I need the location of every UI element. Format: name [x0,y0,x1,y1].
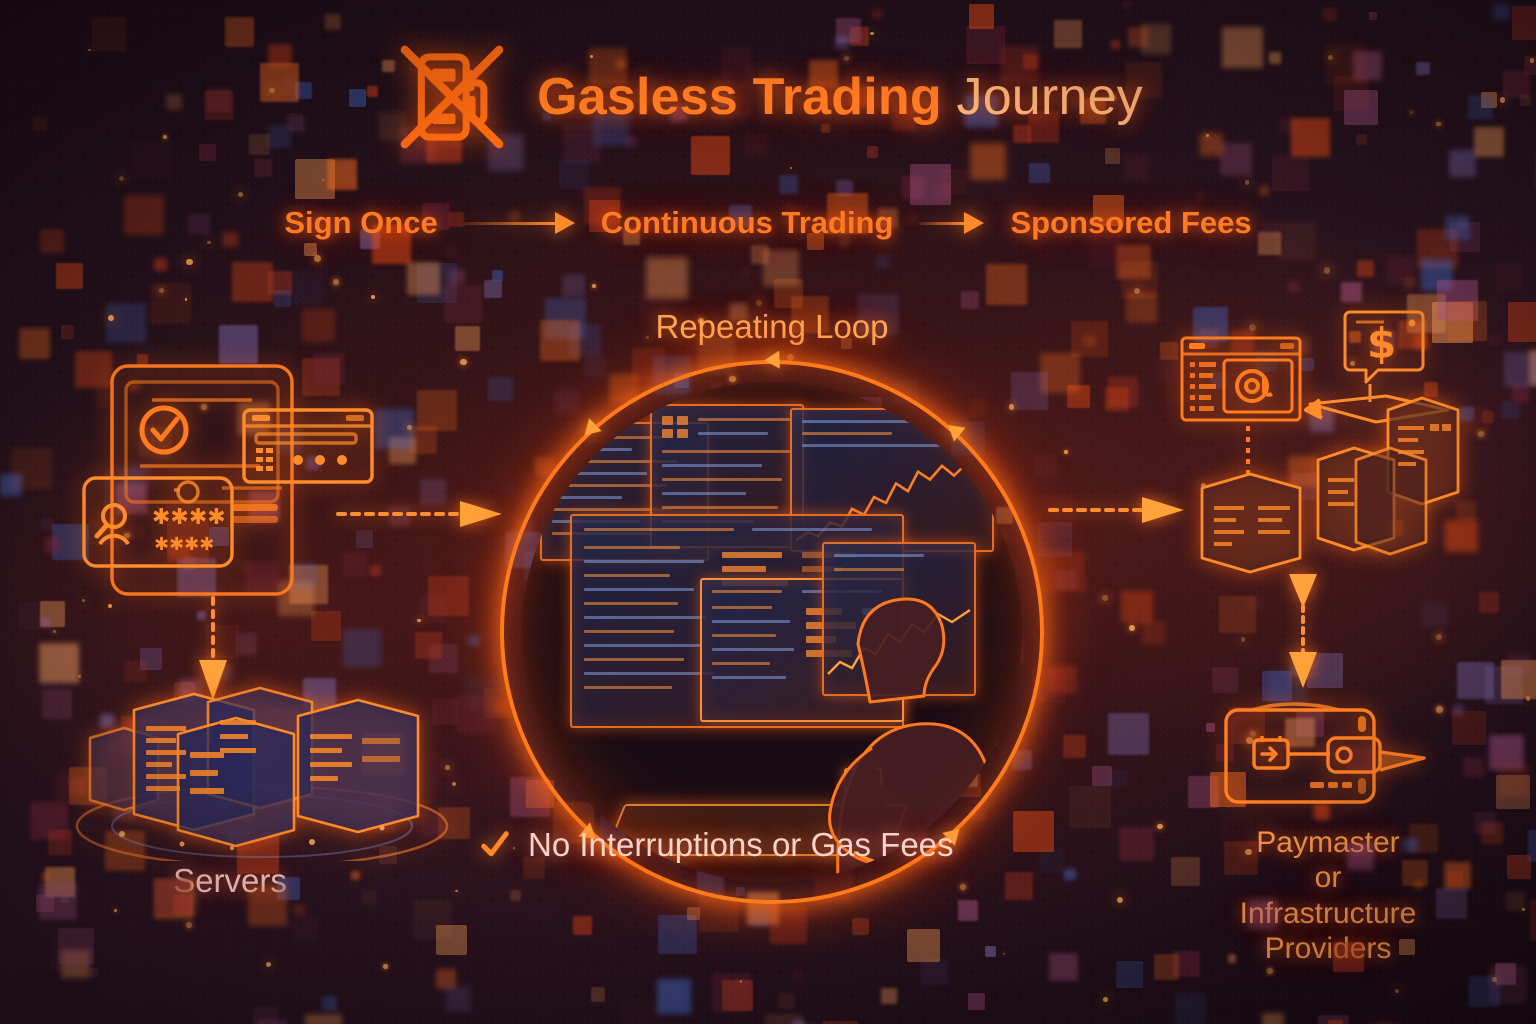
check-icon [480,830,510,860]
page-title: Gasless Trading Journey [537,67,1143,127]
paymaster-label: Paymaster or Infrastructure Providers [1168,825,1488,967]
step-arrow-1-icon [464,212,575,234]
step-arrow-2-icon [919,212,984,234]
step-continuous-trading[interactable]: Continuous Trading [601,205,894,241]
step-flow: Sign Once Continuous Trading Sponsored F… [0,205,1536,241]
header: Gasless Trading Journey [0,38,1536,156]
sponsored-fees-icon-cluster: $ [1160,300,1505,600]
loop-ring-icon [500,360,1044,904]
svg-text:✱✱✱✱: ✱✱✱✱ [152,505,226,530]
benefit-row: No Interruptions or Gas Fees [480,826,1040,864]
step-sponsored-fees[interactable]: Sponsored Fees [1010,205,1251,241]
no-gas-pump-icon [393,38,511,156]
repeating-loop: Repeating Loop [500,360,1044,904]
server-racks-icon [62,676,462,861]
sign-once-icon-cluster: ✱✱✱✱ ✱✱✱✱ [82,358,392,608]
benefit-label: No Interruptions or Gas Fees [528,826,954,864]
step-sign-once[interactable]: Sign Once [284,205,437,241]
title-light: Journey [942,68,1143,126]
svg-text:✱✱✱✱: ✱✱✱✱ [154,534,214,555]
title-strong: Gasless Trading [537,68,942,126]
infographic-canvas: Gasless Trading Journey Sign Once Contin… [0,0,1536,1024]
servers-label: Servers [60,862,400,901]
loop-caption: Repeating Loop [500,308,1044,346]
loop-arrow-left-icon [764,351,780,370]
svg-text:$: $ [1367,319,1396,368]
wallet-icon [1218,694,1433,814]
